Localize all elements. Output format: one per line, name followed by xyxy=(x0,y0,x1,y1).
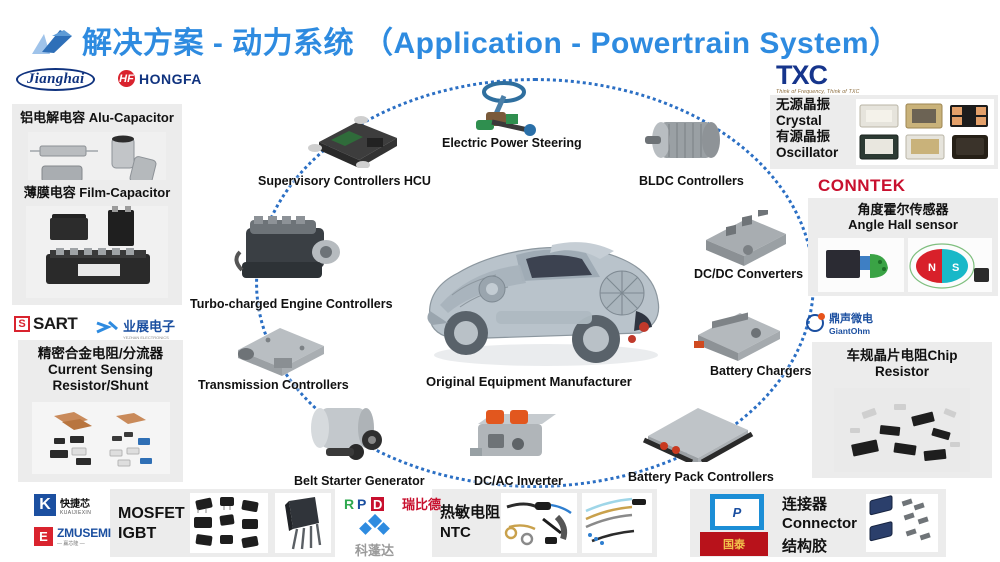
svg-text:D: D xyxy=(373,497,382,512)
hongfa-mark-icon: HF xyxy=(118,70,135,87)
brand-logo-zmusemi: E ZMUSEMI — 赢芯隆 — xyxy=(34,526,111,547)
hall-sensor-photo-magnet: N S xyxy=(908,238,992,292)
panel-txc-crystal: 无源晶振 Crystal 有源晶振 Oscillator xyxy=(770,95,998,169)
photo-dcac-inverter xyxy=(466,408,556,464)
kelongda-mark-icon xyxy=(358,514,392,540)
txc-line-2: Crystal xyxy=(776,113,838,129)
label-turbo-engine-controllers: Turbo-charged Engine Controllers xyxy=(190,297,393,311)
label-ntc-en: NTC xyxy=(440,524,471,542)
brand-logo-adhesive: 国泰 xyxy=(700,532,768,556)
photo-turbo-engine xyxy=(228,212,346,288)
label-mosfet: MOSFET xyxy=(118,504,185,523)
label-connector-en: Connector xyxy=(782,515,857,533)
photo-ntc-sensors xyxy=(501,493,577,553)
yezhan-wordmark: 业展电子 xyxy=(123,316,175,335)
slide-canvas: 解决方案 - 动力系统 （Application - Powertrain Sy… xyxy=(0,0,1000,562)
label-connector-cn: 连接器 xyxy=(782,496,827,514)
brand-logo-kelongda: 科蓬达 xyxy=(355,514,394,559)
label-belt-starter-generator: Belt Starter Generator xyxy=(294,474,425,488)
label-igbt: IGBT xyxy=(118,524,156,543)
label-ntc-cn: 热敏电阻 xyxy=(440,504,500,522)
svg-text:S: S xyxy=(952,262,959,274)
page-title: 解决方案 - 动力系统 （Application - Powertrain Sy… xyxy=(82,18,900,62)
hall-sensor-title-en: Angle Hall sensor xyxy=(808,217,998,232)
label-electric-power-steering: Electric Power Steering xyxy=(442,136,582,150)
label-structural-adhesive: 结构胶 xyxy=(782,538,827,556)
chip-resistor-photo xyxy=(834,388,970,472)
film-capacitor-photo xyxy=(26,206,168,298)
label-bldc-controllers: BLDC Controllers xyxy=(639,174,744,188)
kuaijiexin-mark-icon: K xyxy=(34,494,56,516)
photo-ntc-probes xyxy=(582,493,652,553)
sart-wordmark: SART xyxy=(33,314,77,334)
alu-capacitor-title: 铝电解电容 Alu-Capacitor xyxy=(12,104,182,125)
hall-sensor-title-cn: 角度霍尔传感器 xyxy=(808,198,998,217)
brand-logo-conntek: CONNTEK xyxy=(818,176,906,196)
jianghai-wordmark: Jianghai xyxy=(16,68,95,91)
triangle-arrow-logo-icon xyxy=(30,26,74,56)
photo-battery-pack-controllers xyxy=(636,400,756,462)
hongfa-wordmark: HONGFA xyxy=(139,71,202,87)
brand-logo-connector: P xyxy=(710,494,764,530)
giantohm-mark-icon xyxy=(806,314,824,332)
photo-bridge-rectifier xyxy=(275,493,331,553)
hall-sensor-photo-motor xyxy=(818,238,904,292)
photo-electric-power-steering xyxy=(462,78,552,140)
txc-wordmark: TXC xyxy=(776,62,827,89)
label-battery-chargers: Battery Chargers xyxy=(710,364,811,378)
photo-dcdc-converters xyxy=(696,210,792,266)
yezhan-mark-icon xyxy=(96,320,118,336)
photo-connectors xyxy=(866,494,938,552)
label-dcdc-converters: DC/DC Converters xyxy=(694,267,803,281)
giantohm-wordmark-cn: 鼎声微电 xyxy=(829,310,873,326)
brand-logo-jianghai: Jianghai xyxy=(16,68,95,91)
kuaijiexin-wordmark-cn: 快捷芯 xyxy=(60,495,91,510)
svg-text:P: P xyxy=(357,496,366,512)
panel-film-capacitor: 薄膜电容 Film-Capacitor xyxy=(12,180,182,305)
brand-logo-giantohm: 鼎声微电 GiantOhm xyxy=(806,310,873,336)
panel-chip-resistor: 车规晶片电阻Chip Resistor xyxy=(812,342,992,478)
sart-mark-icon: S xyxy=(14,316,30,332)
label-battery-pack-controllers: Battery Pack Controllers xyxy=(628,470,774,484)
label-dcac-inverter: DC/AC Inverter xyxy=(474,474,563,488)
photo-bldc-controllers xyxy=(643,112,729,170)
kuaijiexin-wordmark-en: KUAIJIEXIN xyxy=(60,510,91,516)
brand-logo-kuaijiexin: K 快捷芯 KUAIJIEXIN xyxy=(34,494,91,516)
brand-logo-hongfa: HF HONGFA xyxy=(118,70,202,87)
txc-line-4: Oscillator xyxy=(776,145,838,161)
photo-supervisory-controllers-hcu xyxy=(305,108,401,168)
photo-mosfet-parts xyxy=(190,493,268,553)
photo-belt-starter-generator xyxy=(306,398,396,464)
photo-transmission-controllers xyxy=(228,318,332,378)
brand-logo-rpd: R P D 瑞比德 xyxy=(344,494,441,513)
slide-header: 解决方案 - 动力系统 （Application - Powertrain Sy… xyxy=(0,8,1000,58)
resistor-title-en2: Resistor/Shunt xyxy=(18,378,183,394)
photo-oem-car xyxy=(400,215,680,370)
panel-angle-hall-sensor: 角度霍尔传感器 Angle Hall sensor N S xyxy=(808,198,998,296)
resistor-title-cn: 精密合金电阻/分流器 xyxy=(18,340,183,362)
rpd-mark-icon: R P D xyxy=(344,496,398,512)
panel-current-sensing-resistor: 精密合金电阻/分流器 Current Sensing Resistor/Shun… xyxy=(18,340,183,482)
txc-line-3: 有源晶振 xyxy=(776,129,838,145)
kelongda-wordmark-cn: 科蓬达 xyxy=(355,540,394,559)
photo-battery-chargers xyxy=(690,305,786,361)
svg-text:R: R xyxy=(344,496,354,512)
resistor-photo xyxy=(32,402,170,474)
brand-logo-yezhan: 业展电子 YEZHAN ELECTRONICS xyxy=(96,316,175,340)
chip-resistor-title-cn: 车规晶片电阻Chip xyxy=(812,342,992,364)
zmusemi-wordmark: ZMUSEMI xyxy=(57,526,111,540)
chip-resistor-title-en: Resistor xyxy=(812,364,992,380)
giantohm-wordmark-en: GiantOhm xyxy=(829,326,873,336)
brand-logo-sart: S SART xyxy=(14,314,77,334)
svg-text:N: N xyxy=(928,262,936,274)
txc-line-1: 无源晶振 xyxy=(776,97,838,113)
adhesive-mark-icon: 国泰 xyxy=(723,536,745,552)
rpd-wordmark-cn: 瑞比德 xyxy=(402,494,441,513)
conntek-wordmark: CONNTEK xyxy=(818,176,906,196)
zmusemi-mark-icon: E xyxy=(34,527,53,546)
resistor-title-en1: Current Sensing xyxy=(18,362,183,378)
label-transmission-controllers: Transmission Controllers xyxy=(198,378,349,392)
label-supervisory-controllers-hcu: Supervisory Controllers HCU xyxy=(258,174,431,188)
label-oem-center: Original Equipment Manufacturer xyxy=(426,374,632,389)
connector-mark-icon: P xyxy=(715,499,759,526)
brand-logo-txc: TXC Think of Frequency, Think of TXC xyxy=(776,62,860,95)
zmusemi-subtext: — 赢芯隆 — xyxy=(57,540,111,547)
film-capacitor-title: 薄膜电容 Film-Capacitor xyxy=(12,180,182,200)
txc-crystal-photo xyxy=(856,99,994,165)
